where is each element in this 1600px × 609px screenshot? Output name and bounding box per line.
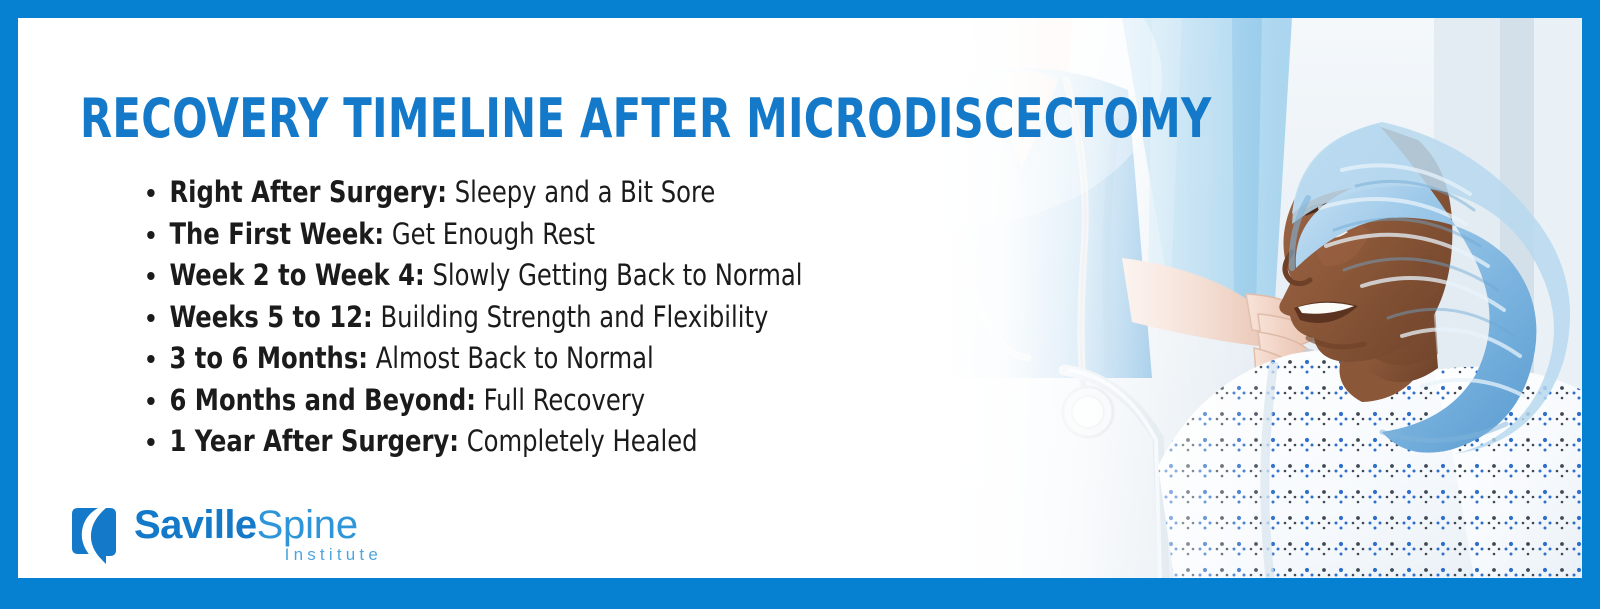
- list-item: 6 Months and Beyond: Full Recovery: [136, 384, 936, 416]
- logo-word-primary: Saville: [134, 503, 257, 547]
- list-item-detail: Get Enough Rest: [392, 217, 595, 251]
- list-item-label: 1 Year After Surgery:: [169, 424, 459, 458]
- logo-word-secondary: Spine: [257, 503, 358, 547]
- list-item: Weeks 5 to 12: Building Strength and Fle…: [136, 301, 936, 333]
- list-item-detail: Full Recovery: [484, 383, 645, 417]
- spine-mark-icon: [66, 500, 122, 568]
- list-item-detail: Slowly Getting Back to Normal: [432, 258, 802, 292]
- recovery-timeline-list: Right After Surgery: Sleepy and a Bit So…: [136, 176, 996, 467]
- logo-wordmark-group: SavilleSpine Institute: [134, 504, 384, 565]
- list-item-label: Weeks 5 to 12:: [169, 300, 372, 334]
- list-item-detail: Building Strength and Flexibility: [380, 300, 768, 334]
- logo-wordmark: SavilleSpine: [134, 504, 384, 546]
- spine-mark-glyph: [66, 500, 122, 568]
- list-item-detail: Almost Back to Normal: [376, 341, 654, 375]
- list-item-label: Right After Surgery:: [169, 175, 447, 209]
- content-column: RECOVERY TIMELINE AFTER MICRODISCECTOMY …: [18, 18, 1018, 578]
- card-inner-surface: RECOVERY TIMELINE AFTER MICRODISCECTOMY …: [18, 18, 1582, 578]
- list-item: 3 to 6 Months: Almost Back to Normal: [136, 342, 936, 374]
- list-item: 1 Year After Surgery: Completely Healed: [136, 425, 936, 457]
- logo-tagline: Institute: [134, 545, 384, 565]
- list-item-detail: Sleepy and a Bit Sore: [455, 175, 716, 209]
- list-item-label: The First Week:: [169, 217, 384, 251]
- list-item-label: Week 2 to Week 4:: [169, 258, 424, 292]
- infographic-card: RECOVERY TIMELINE AFTER MICRODISCECTOMY …: [0, 0, 1600, 609]
- list-item-label: 6 Months and Beyond:: [169, 383, 475, 417]
- list-item: The First Week: Get Enough Rest: [136, 218, 936, 250]
- list-item: Right After Surgery: Sleepy and a Bit So…: [136, 176, 936, 208]
- list-item-label: 3 to 6 Months:: [169, 341, 367, 375]
- list-item-detail: Completely Healed: [467, 424, 698, 458]
- page-title: RECOVERY TIMELINE AFTER MICRODISCECTOMY: [80, 92, 974, 146]
- saville-spine-institute-logo[interactable]: SavilleSpine Institute: [66, 496, 386, 578]
- list-item: Week 2 to Week 4: Slowly Getting Back to…: [136, 259, 936, 291]
